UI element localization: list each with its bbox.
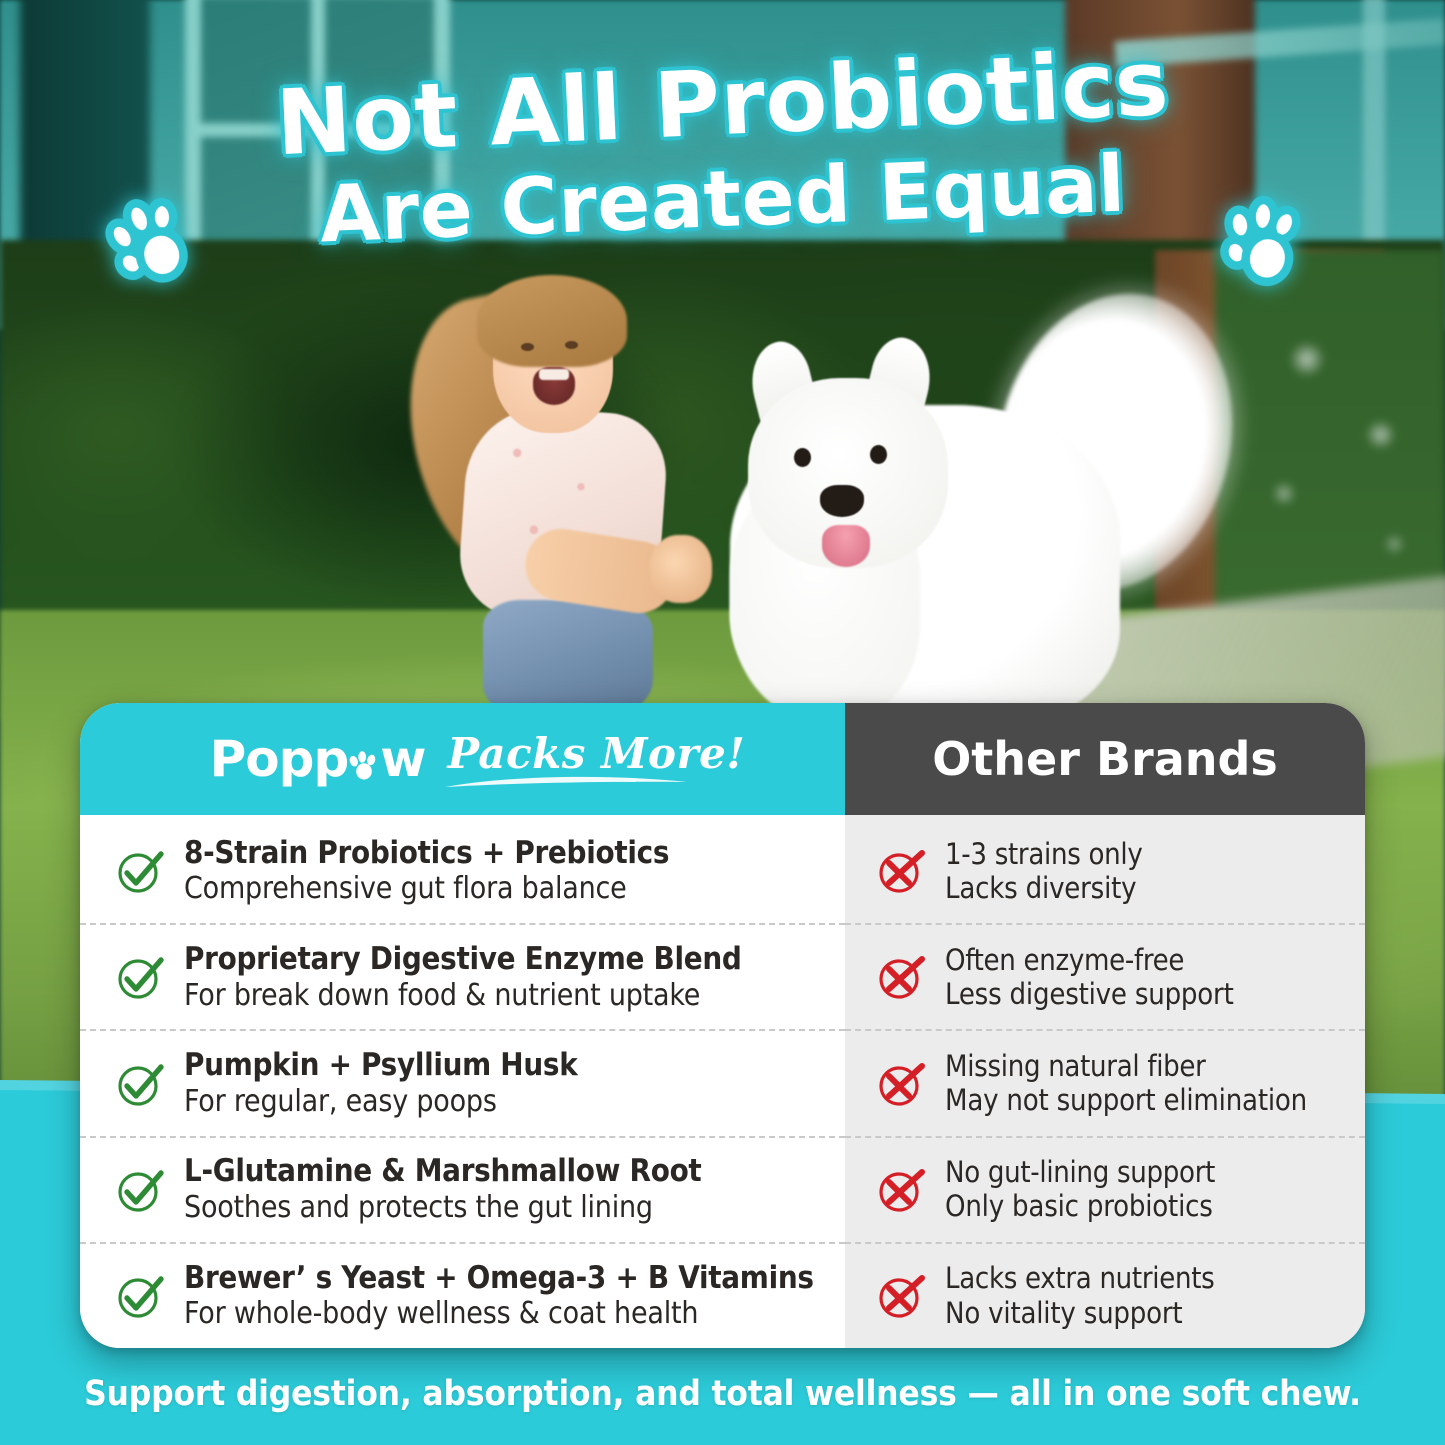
table-row: L-Glutamine & Marshmallow Root Soothes a… <box>80 1138 845 1244</box>
competitor-column: 1-3 strains only Lacks diversity Often e… <box>845 815 1365 1348</box>
table-row: Pumpkin + Psyllium Husk For regular, eas… <box>80 1031 845 1137</box>
row-subtitle: For break down food & nutrient uptake <box>184 978 742 1014</box>
house-window <box>185 0 450 280</box>
row-title: L-Glutamine & Marshmallow Root <box>184 1153 701 1190</box>
competitor-title: Other Brands <box>932 732 1278 786</box>
check-circle-icon <box>114 1164 166 1216</box>
row-subtitle: Soothes and protects the gut lining <box>184 1190 701 1226</box>
footer-tagline: Support digestion, absorption, and total… <box>0 1374 1445 1414</box>
row-subtitle: Comprehensive gut flora balance <box>184 871 669 907</box>
table-row: Lacks extra nutrients No vitality suppor… <box>845 1244 1365 1348</box>
row-subtitle: May not support elimination <box>945 1083 1307 1118</box>
cross-circle-icon <box>875 1058 927 1110</box>
check-circle-icon <box>114 1058 166 1110</box>
check-circle-icon <box>114 951 166 1003</box>
row-subtitle: Only basic probiotics <box>945 1189 1215 1224</box>
row-text: Brewer’ s Yeast + Omega-3 + B Vitamins F… <box>184 1260 814 1333</box>
row-title: Lacks extra nutrients <box>945 1261 1214 1295</box>
row-title: Often enzyme-free <box>945 943 1234 977</box>
row-title: Pumpkin + Psyllium Husk <box>184 1047 577 1084</box>
brand-tagline-wrap: Packs More! <box>447 729 745 790</box>
cross-circle-icon <box>875 1164 927 1216</box>
row-subtitle: For whole-body wellness & coat health <box>184 1296 814 1332</box>
comparison-card-body: 8-Strain Probiotics + Prebiotics Compreh… <box>80 815 1365 1348</box>
row-text: No gut-lining support Only basic probiot… <box>945 1155 1215 1224</box>
competitor-row-list: 1-3 strains only Lacks diversity Often e… <box>845 819 1365 1348</box>
cross-circle-icon <box>875 1270 927 1322</box>
row-subtitle: No vitality support <box>945 1296 1214 1331</box>
paw-print-icon <box>1207 187 1318 298</box>
paw-print-icon <box>349 751 379 781</box>
row-text: Proprietary Digestive Enzyme Blend For b… <box>184 941 742 1014</box>
row-subtitle: Less digestive support <box>945 977 1234 1012</box>
row-text: 8-Strain Probiotics + Prebiotics Compreh… <box>184 835 669 908</box>
row-title: 1-3 strains only <box>945 837 1142 871</box>
check-circle-icon <box>114 1270 166 1322</box>
row-subtitle: For regular, easy poops <box>184 1084 577 1120</box>
brand-row-list: 8-Strain Probiotics + Prebiotics Compreh… <box>80 819 845 1348</box>
table-row: 8-Strain Probiotics + Prebiotics Compreh… <box>80 819 845 925</box>
table-row: No gut-lining support Only basic probiot… <box>845 1138 1365 1244</box>
comparison-card-header: Popp w Packs More! <box>80 703 1365 815</box>
row-text: L-Glutamine & Marshmallow Root Soothes a… <box>184 1153 701 1226</box>
row-title: Brewer’ s Yeast + Omega-3 + B Vitamins <box>184 1260 814 1297</box>
girl-running <box>405 255 695 710</box>
row-text: Pumpkin + Psyllium Husk For regular, eas… <box>184 1047 577 1120</box>
white-samoyed-dog <box>700 300 1210 720</box>
table-row: Missing natural fiber May not support el… <box>845 1031 1365 1137</box>
competitor-header: Other Brands <box>845 703 1365 815</box>
brand-column: 8-Strain Probiotics + Prebiotics Compreh… <box>80 815 845 1348</box>
tagline-underline-swoosh <box>441 772 691 792</box>
brand-name-part-1: Popp <box>210 730 349 788</box>
table-row: Brewer’ s Yeast + Omega-3 + B Vitamins F… <box>80 1244 845 1348</box>
row-title: 8-Strain Probiotics + Prebiotics <box>184 835 669 872</box>
row-title: Missing natural fiber <box>945 1049 1307 1083</box>
row-text: 1-3 strains only Lacks diversity <box>945 837 1142 906</box>
table-row: Proprietary Digestive Enzyme Blend For b… <box>80 925 845 1031</box>
comparison-card: Popp w Packs More! <box>80 703 1365 1348</box>
table-row: Often enzyme-free Less digestive support <box>845 925 1365 1031</box>
brand-header: Popp w Packs More! <box>80 703 845 815</box>
row-title: No gut-lining support <box>945 1155 1215 1189</box>
row-title: Proprietary Digestive Enzyme Blend <box>184 941 742 978</box>
brand-tagline: Packs More! <box>447 729 745 778</box>
brand-logo: Popp w <box>210 730 426 788</box>
cross-circle-icon <box>875 951 927 1003</box>
row-subtitle: Lacks diversity <box>945 871 1142 906</box>
table-row: 1-3 strains only Lacks diversity <box>845 819 1365 925</box>
check-circle-icon <box>114 845 166 897</box>
row-text: Lacks extra nutrients No vitality suppor… <box>945 1261 1214 1330</box>
product-infographic: Not All Probiotics Are Created Equal Pop <box>0 0 1445 1445</box>
brand-name-part-2: w <box>380 730 425 788</box>
row-text: Often enzyme-free Less digestive support <box>945 943 1234 1012</box>
row-text: Missing natural fiber May not support el… <box>945 1049 1307 1118</box>
cross-circle-icon <box>875 845 927 897</box>
